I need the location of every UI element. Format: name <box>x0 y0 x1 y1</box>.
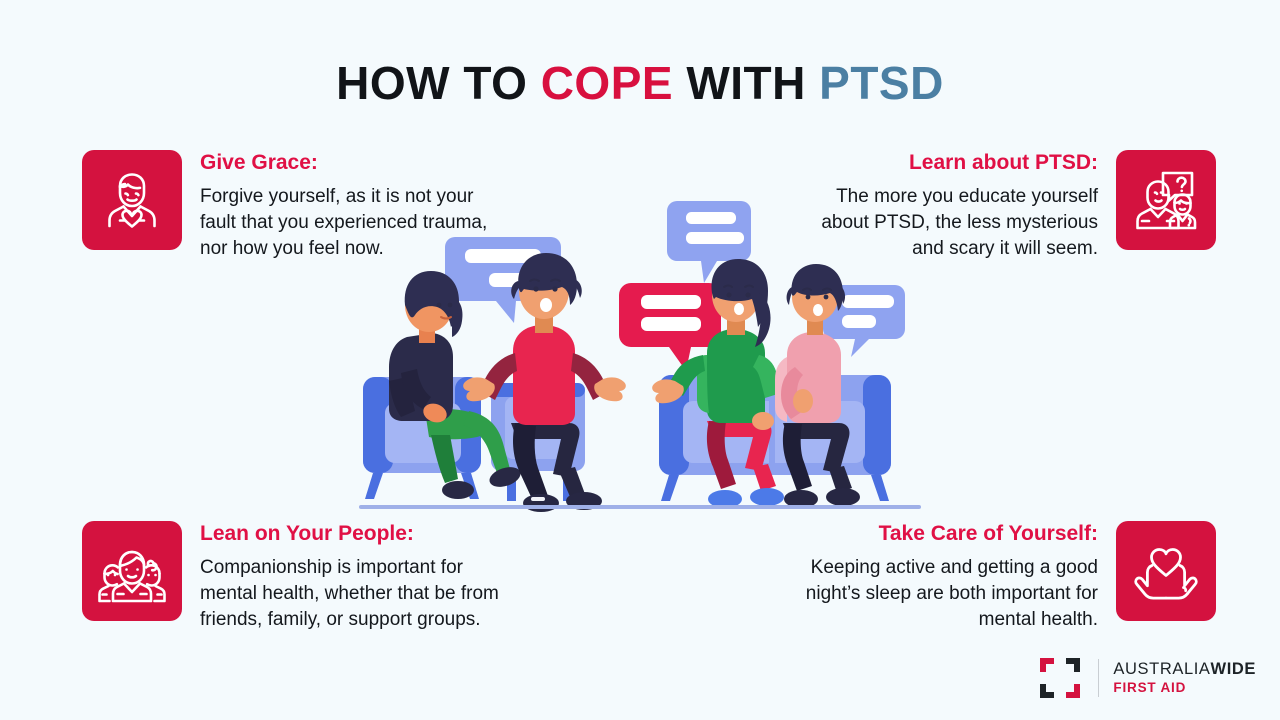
tip-heading: Take Care of Yourself: <box>798 521 1098 546</box>
person-hands-heart-icon <box>82 150 182 250</box>
logo-line-1: AUSTRALIAWIDE <box>1113 661 1256 679</box>
hands-holding-heart-icon <box>1116 521 1216 621</box>
page-title: HOW TO COPE WITH PTSD <box>0 56 1280 110</box>
logo-divider <box>1098 659 1099 697</box>
logo-wordmark: AUSTRALIAWIDE FIRST AID <box>1113 661 1256 695</box>
title-acronym: PTSD <box>819 57 944 109</box>
tip-card-lean-on-people: Lean on Your People: Companionship is im… <box>82 521 500 633</box>
tip-text-lean-on-people: Lean on Your People: Companionship is im… <box>200 521 500 633</box>
floor-line <box>359 505 921 509</box>
title-part1: HOW TO <box>336 57 541 109</box>
patient-doctor-question-icon <box>1116 150 1216 250</box>
tip-body: Companionship is important for mental he… <box>200 555 500 632</box>
support-group-illustration <box>355 185 925 515</box>
tip-body: Keeping active and getting a good night’… <box>798 555 1098 632</box>
tip-heading: Give Grace: <box>200 150 500 175</box>
tip-card-take-care: Take Care of Yourself: Keeping active an… <box>798 521 1216 633</box>
logo-australia: AUSTRALIA <box>1113 660 1210 678</box>
logo-wide: WIDE <box>1211 660 1256 678</box>
logo-line-2: FIRST AID <box>1113 681 1256 696</box>
title-part2: WITH <box>673 57 819 109</box>
title-highlight: COPE <box>541 57 673 109</box>
tip-heading: Lean on Your People: <box>200 521 500 546</box>
infographic-canvas: HOW TO COPE WITH PTSD Give Grace: Forgiv… <box>0 0 1280 720</box>
australia-wide-first-aid-logo: AUSTRALIAWIDE FIRST AID <box>1036 654 1256 702</box>
group-of-people-icon <box>82 521 182 621</box>
tip-text-take-care: Take Care of Yourself: Keeping active an… <box>798 521 1098 633</box>
tip-heading: Learn about PTSD: <box>798 150 1098 175</box>
australia-wide-cross-icon <box>1036 654 1084 702</box>
